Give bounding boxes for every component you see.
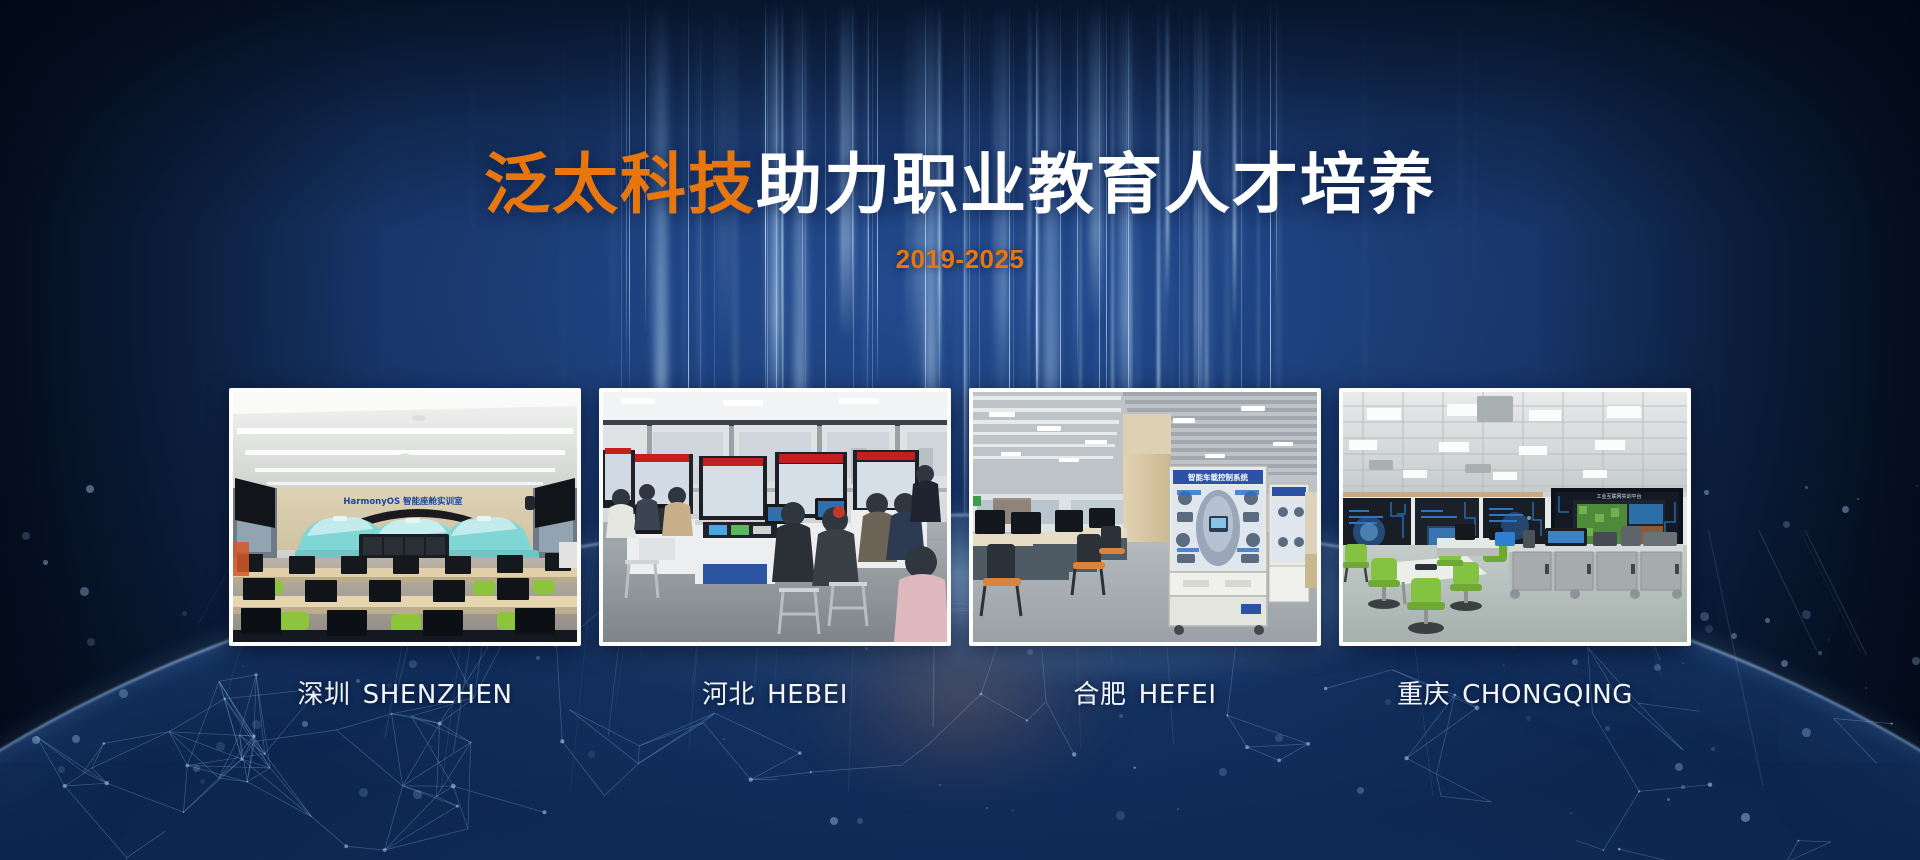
caption-cn: 合肥 xyxy=(1073,680,1126,710)
caption-cn: 河北 xyxy=(702,680,755,710)
banner-stage: 泛太科技助力职业教育人才培养 2019-2025 xyxy=(0,0,1920,860)
photo-caption: 河北HEBEI xyxy=(702,674,848,711)
shenzhen-lab-photo: HarmonyOS 智能座舱实训室 xyxy=(233,392,577,642)
chongqing-lab-photo: 工业互联网实训平台 xyxy=(1343,392,1687,642)
caption-cn: 深圳 xyxy=(297,680,350,710)
caption-en: SHENZHEN xyxy=(363,680,513,710)
svg-text:工业互联网实训平台: 工业互联网实训平台 xyxy=(1596,493,1641,500)
svg-text:智能车载控制系统: 智能车载控制系统 xyxy=(1188,472,1248,482)
photo-card-row: HarmonyOS 智能座舱实训室 xyxy=(0,388,1920,711)
title-block: 泛太科技助力职业教育人才培养 2019-2025 xyxy=(0,148,1920,275)
page-title: 泛太科技助力职业教育人才培养 xyxy=(0,148,1920,222)
hebei-lab-photo xyxy=(603,392,947,642)
caption-en: CHONGQING xyxy=(1462,680,1633,710)
svg-text:HarmonyOS 智能座舱实训室: HarmonyOS 智能座舱实训室 xyxy=(343,496,463,507)
photo-card-hefei[interactable]: 智能车载控制系统 xyxy=(969,388,1321,711)
caption-cn: 重庆 xyxy=(1397,680,1450,710)
photo-frame: 工业互联网实训平台 xyxy=(1339,388,1691,646)
caption-en: HEBEI xyxy=(767,680,848,710)
photo-card-chongqing[interactable]: 工业互联网实训平台 xyxy=(1339,388,1691,711)
caption-en: HEFEI xyxy=(1139,680,1217,710)
title-subtitle: 2019-2025 xyxy=(0,244,1920,275)
photo-frame: HarmonyOS 智能座舱实训室 xyxy=(229,388,581,646)
title-rest: 助力职业教育人才培养 xyxy=(756,146,1436,223)
photo-frame: 智能车载控制系统 xyxy=(969,388,1321,646)
photo-caption: 合肥HEFEI xyxy=(1073,674,1216,711)
hefei-lab-photo: 智能车载控制系统 xyxy=(973,392,1317,642)
photo-card-shenzhen[interactable]: HarmonyOS 智能座舱实训室 xyxy=(229,388,581,711)
photo-frame xyxy=(599,388,951,646)
title-brand: 泛太科技 xyxy=(484,146,756,223)
photo-card-hebei[interactable]: 河北HEBEI xyxy=(599,388,951,711)
photo-caption: 重庆CHONGQING xyxy=(1397,674,1633,711)
photo-caption: 深圳SHENZHEN xyxy=(297,674,512,711)
